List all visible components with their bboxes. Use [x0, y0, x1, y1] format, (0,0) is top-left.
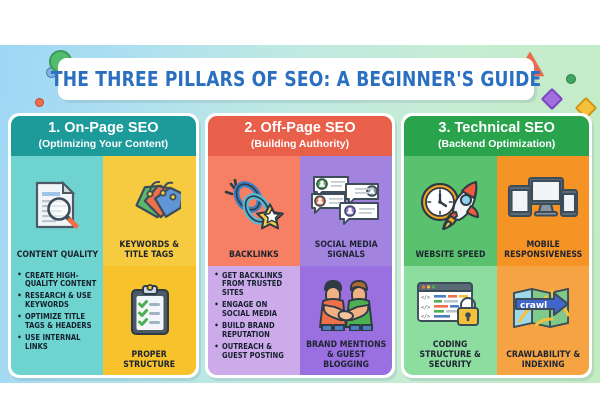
cell-caption: BRAND MENTIONS & GUEST BLOGGING — [305, 340, 388, 370]
pillar-heading: 2. Off-Page SEO — [212, 121, 389, 137]
cell-mobile-responsiveness: MOBILE RESPONSIVENESS — [497, 156, 589, 266]
cell-caption: WEBSITE SPEED — [416, 250, 486, 260]
page-title: THE THREE PILLARS OF SEO: A BEGINNER'S G… — [51, 67, 542, 91]
devices-icon — [500, 160, 586, 240]
price-tags-icon — [106, 160, 192, 240]
list-item: Create high-quality content — [17, 272, 98, 289]
pillar-card-technical-seo: 3. Technical SEO (Backend Optimization) — [401, 113, 592, 378]
chain-link-star-icon — [211, 160, 297, 250]
cell-crawlability-indexing: crawl CRAWLABILITY & INDEXING — [497, 266, 589, 376]
list-item: Use internal links — [17, 334, 98, 351]
cell-social-media-signals: SOCIAL MEDIA SIGNALS — [300, 156, 392, 266]
speech-bubbles-icon — [303, 160, 389, 240]
pillar-heading: 1. On-Page SEO — [15, 121, 192, 137]
list-item: Engage on social media — [214, 301, 295, 318]
list-item: Outreach & guest posting — [214, 343, 295, 360]
title-banner: THE THREE PILLARS OF SEO: A BEGINNER'S G… — [58, 58, 534, 100]
cell-caption: SOCIAL MEDIA SIGNALS — [305, 240, 388, 260]
orange-dot-decoration — [35, 98, 44, 107]
svg-text:</>: </> — [421, 314, 430, 320]
svg-text:</>: </> — [421, 305, 430, 311]
cell-content-quality: CONTENT QUALITY — [11, 156, 103, 266]
list-item: Build brand reputation — [214, 322, 295, 339]
map-crawl-arrow-icon: crawl — [500, 270, 586, 350]
green-dot-decoration — [566, 74, 576, 84]
list-item: Get backlinks from trusted sites — [214, 272, 295, 298]
infographic-canvas: THE THREE PILLARS OF SEO: A BEGINNER'S G… — [0, 45, 600, 383]
cell-caption: BACKLINKS — [229, 250, 279, 260]
cell-caption: PROPER STRUCTURE — [108, 350, 191, 370]
cell-website-speed: WEBSITE SPEED — [404, 156, 496, 266]
cell-on-page-checklist: Create high-quality content Research & u… — [11, 266, 103, 376]
pillar-subheading: (Backend Optimization) — [408, 138, 585, 150]
pillar-heading: 3. Technical SEO — [408, 121, 585, 137]
code-window-lock-icon: </></></> — [407, 270, 493, 340]
cell-caption: KEYWORDS & TITLE TAGS — [108, 240, 191, 260]
cell-off-page-checklist: Get backlinks from trusted sites Engage … — [208, 266, 300, 376]
cell-caption: CONTENT QUALITY — [16, 250, 97, 260]
cell-brand-mentions-guest-blogging: BRAND MENTIONS & GUEST BLOGGING — [300, 266, 392, 376]
pillar-subheading: (Building Authority) — [212, 138, 389, 150]
cell-caption: CODING STRUCTURE & SECURITY — [409, 340, 492, 370]
handshake-icon — [303, 270, 389, 340]
pillar-header-technical-seo: 3. Technical SEO (Backend Optimization) — [404, 116, 589, 156]
pillar-header-on-page-seo: 1. On-Page SEO (Optimizing Your Content) — [11, 116, 196, 156]
cell-proper-structure: PROPER STRUCTURE — [103, 266, 195, 376]
pillar-header-off-page-seo: 2. Off-Page SEO (Building Authority) — [208, 116, 393, 156]
purple-diamond-decoration — [541, 88, 564, 111]
document-magnifier-icon — [14, 160, 100, 250]
pillars-grid: 1. On-Page SEO (Optimizing Your Content) — [8, 113, 592, 378]
list-item: Research & use keywords — [17, 292, 98, 309]
pillar-card-on-page-seo: 1. On-Page SEO (Optimizing Your Content) — [8, 113, 199, 378]
bullet-list: Create high-quality content Research & u… — [16, 272, 99, 356]
pillar-subheading: (Optimizing Your Content) — [15, 138, 192, 150]
clipboard-checklist-icon — [106, 270, 192, 350]
svg-text:</>: </> — [421, 295, 430, 301]
cell-keywords-title-tags: KEYWORDS & TITLE TAGS — [103, 156, 195, 266]
crawl-badge-label: crawl — [520, 301, 547, 311]
bullet-list: Get backlinks from trusted sites Engage … — [213, 272, 296, 364]
cell-backlinks: BACKLINKS — [208, 156, 300, 266]
list-item: Optimize title tags & headers — [17, 313, 98, 330]
cell-coding-structure-security: </></></> — [404, 266, 496, 376]
cell-caption: MOBILE RESPONSIVENESS — [501, 240, 584, 260]
pillar-card-off-page-seo: 2. Off-Page SEO (Building Authority) — [205, 113, 396, 378]
cell-caption: CRAWLABILITY & INDEXING — [501, 350, 584, 370]
clock-rocket-icon — [407, 160, 493, 250]
